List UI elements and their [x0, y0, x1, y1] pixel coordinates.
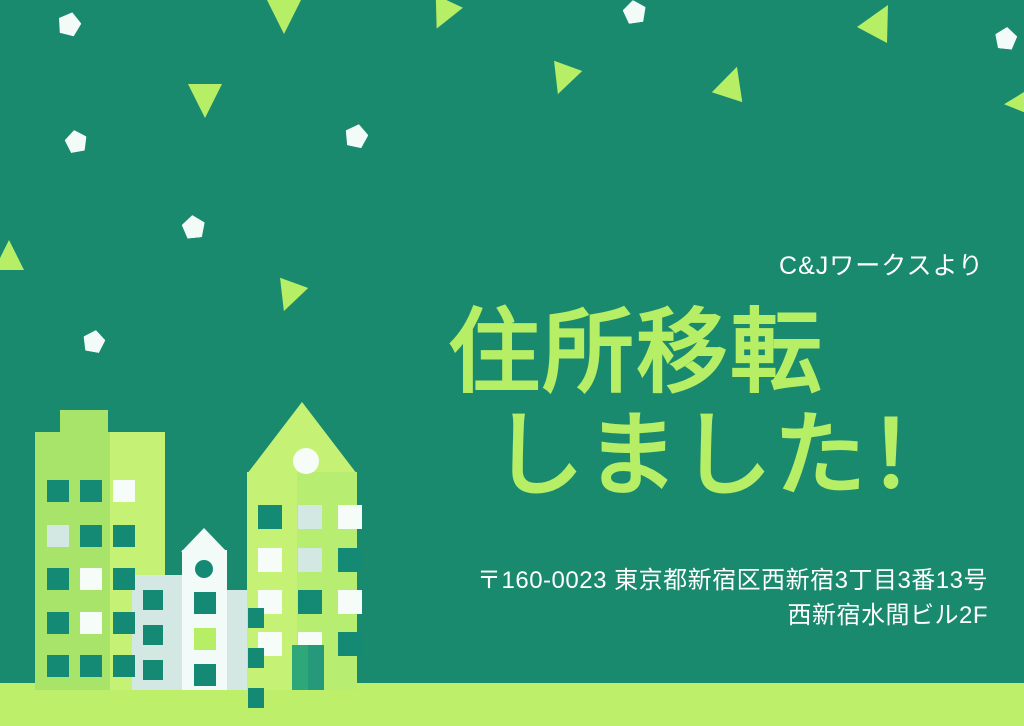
window-pale-right — [248, 608, 264, 628]
window-left-tower — [80, 655, 102, 677]
confetti-pentagon-icon — [81, 328, 106, 353]
window-left-tower — [47, 480, 69, 502]
confetti-triangle-icon — [1003, 87, 1024, 120]
window-pale-left — [143, 660, 163, 680]
round-window-icon — [293, 448, 319, 474]
window-white-house — [194, 664, 216, 686]
window-left-tower — [47, 525, 69, 547]
kicker-text: C&Jワークスより — [779, 246, 984, 282]
confetti-triangle-icon — [423, 0, 463, 35]
round-window-icon — [195, 560, 213, 578]
confetti-triangle-icon — [712, 62, 752, 102]
window-left-tower — [113, 568, 135, 590]
confetti-pentagon-icon — [622, 0, 648, 24]
confetti-pentagon-icon — [181, 214, 206, 239]
building-tower-left-main — [35, 432, 110, 690]
house-roof — [181, 528, 227, 552]
window-left-tower — [47, 655, 69, 677]
window-pale-right — [248, 648, 264, 668]
window-left-tower — [113, 525, 135, 547]
window-left-tower — [113, 612, 135, 634]
window-left-tower — [113, 655, 135, 677]
address-line-1: 〒160-0023 東京都新宿区西新宿3丁目3番13号 — [288, 564, 988, 599]
address-block: 〒160-0023 東京都新宿区西新宿3丁目3番13号 西新宿水間ビル2F — [288, 564, 988, 634]
confetti-triangle-icon — [857, 0, 903, 43]
headline-line-2: しました！ — [342, 405, 962, 508]
window-white-house — [194, 592, 216, 614]
confetti-triangle-icon — [0, 240, 24, 270]
window-left-tower — [80, 525, 102, 547]
window-right-tower — [258, 505, 282, 529]
window-pale-right — [248, 688, 264, 708]
window-pale-left — [143, 590, 163, 610]
window-left-tower — [80, 568, 102, 590]
confetti-pentagon-icon — [63, 128, 88, 153]
window-right-tower — [338, 505, 362, 529]
confetti-pentagon-icon — [994, 26, 1018, 50]
window-right-tower — [338, 632, 362, 656]
page-title: 住所移転 しました！ — [342, 302, 962, 508]
confetti-triangle-icon — [270, 278, 308, 316]
building-door-shade — [308, 645, 324, 690]
confetti-pentagon-icon — [56, 10, 84, 38]
address-line-2: 西新宿水間ビル2F — [288, 599, 988, 634]
window-white-house — [194, 628, 216, 650]
window-right-tower — [258, 548, 282, 572]
confetti-pentagon-icon — [343, 122, 370, 149]
poster-canvas: C&Jワークスより 住所移転 しました！ 〒160-0023 東京都新宿区西新宿… — [0, 0, 1024, 726]
window-left-tower — [80, 612, 102, 634]
confetti-triangle-icon — [267, 0, 301, 34]
confetti-triangle-icon — [188, 84, 222, 118]
window-pale-left — [143, 625, 163, 645]
window-left-tower — [47, 612, 69, 634]
window-left-tower — [80, 480, 102, 502]
window-right-tower — [298, 505, 322, 529]
headline-line-1: 住所移転 — [342, 302, 962, 405]
window-left-tower — [47, 568, 69, 590]
window-left-tower — [113, 480, 135, 502]
confetti-triangle-icon — [544, 61, 582, 99]
